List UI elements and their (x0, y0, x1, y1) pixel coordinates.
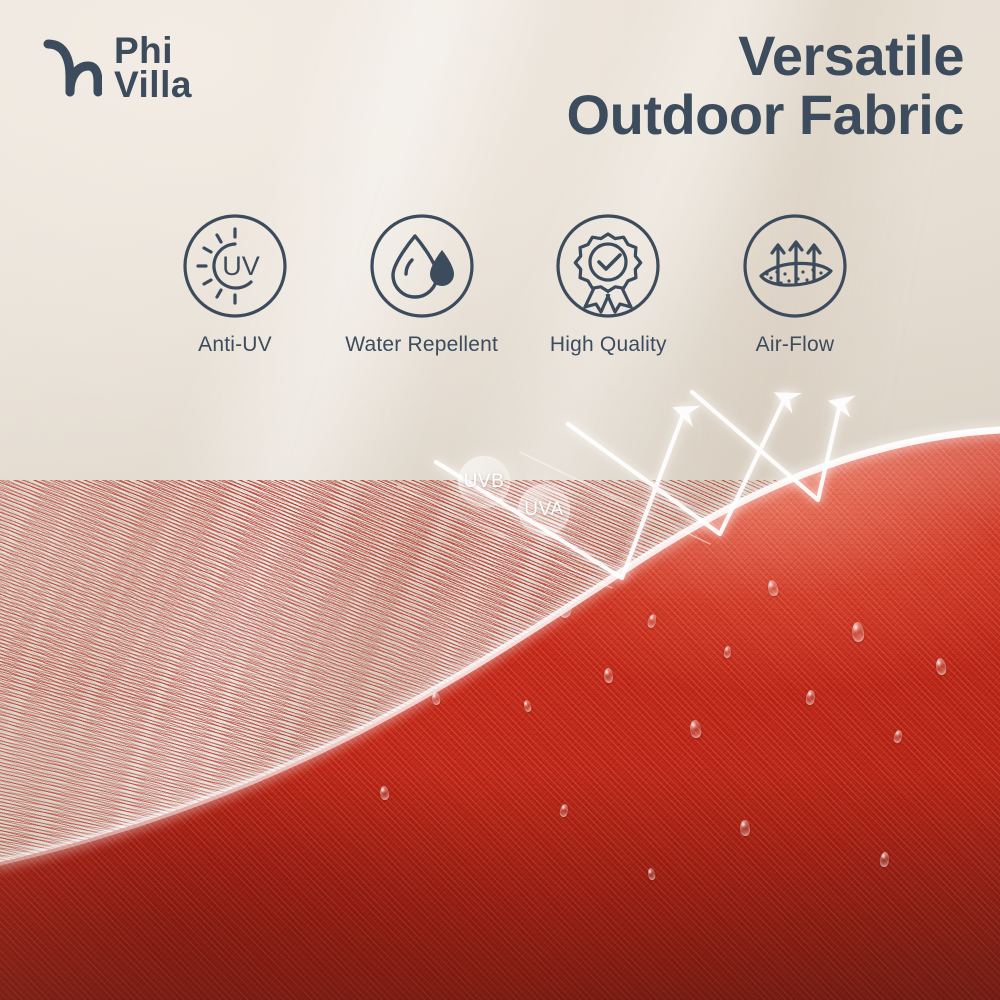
feature-label: Anti-UV (198, 333, 272, 357)
air-flow-fabric-icon (741, 212, 849, 320)
headline-line1: Versatile (567, 26, 964, 85)
brand-name-line2: Villa (114, 68, 192, 102)
feature-high-quality: High Quality (523, 212, 693, 357)
feature-label: Air-Flow (756, 333, 835, 357)
water-droplet-icon (368, 212, 476, 320)
product-feature-banner: UVB UVA Phi Villa Versatile Outdoor Fabr… (0, 0, 1000, 1000)
anti-uv-sun-icon: UV (181, 212, 289, 320)
quality-badge-check-icon (554, 212, 662, 320)
background-vignette (0, 0, 1000, 1000)
brand-name: Phi Villa (114, 34, 192, 102)
phivilla-mark-icon (40, 36, 102, 100)
feature-label: Water Repellent (345, 333, 498, 357)
feature-list: UV Anti-UV Water Repellent (150, 212, 880, 357)
headline-line2: Outdoor Fabric (567, 85, 964, 144)
page-title: Versatile Outdoor Fabric (567, 26, 964, 145)
brand-logo[interactable]: Phi Villa (40, 34, 192, 102)
anti-uv-icon-text: UV (222, 251, 260, 281)
feature-air-flow: Air-Flow (710, 212, 880, 357)
feature-anti-uv: UV Anti-UV (150, 212, 320, 357)
feature-water-repellent: Water Repellent (337, 212, 507, 357)
feature-label: High Quality (550, 333, 667, 357)
brand-name-line1: Phi (114, 34, 192, 68)
